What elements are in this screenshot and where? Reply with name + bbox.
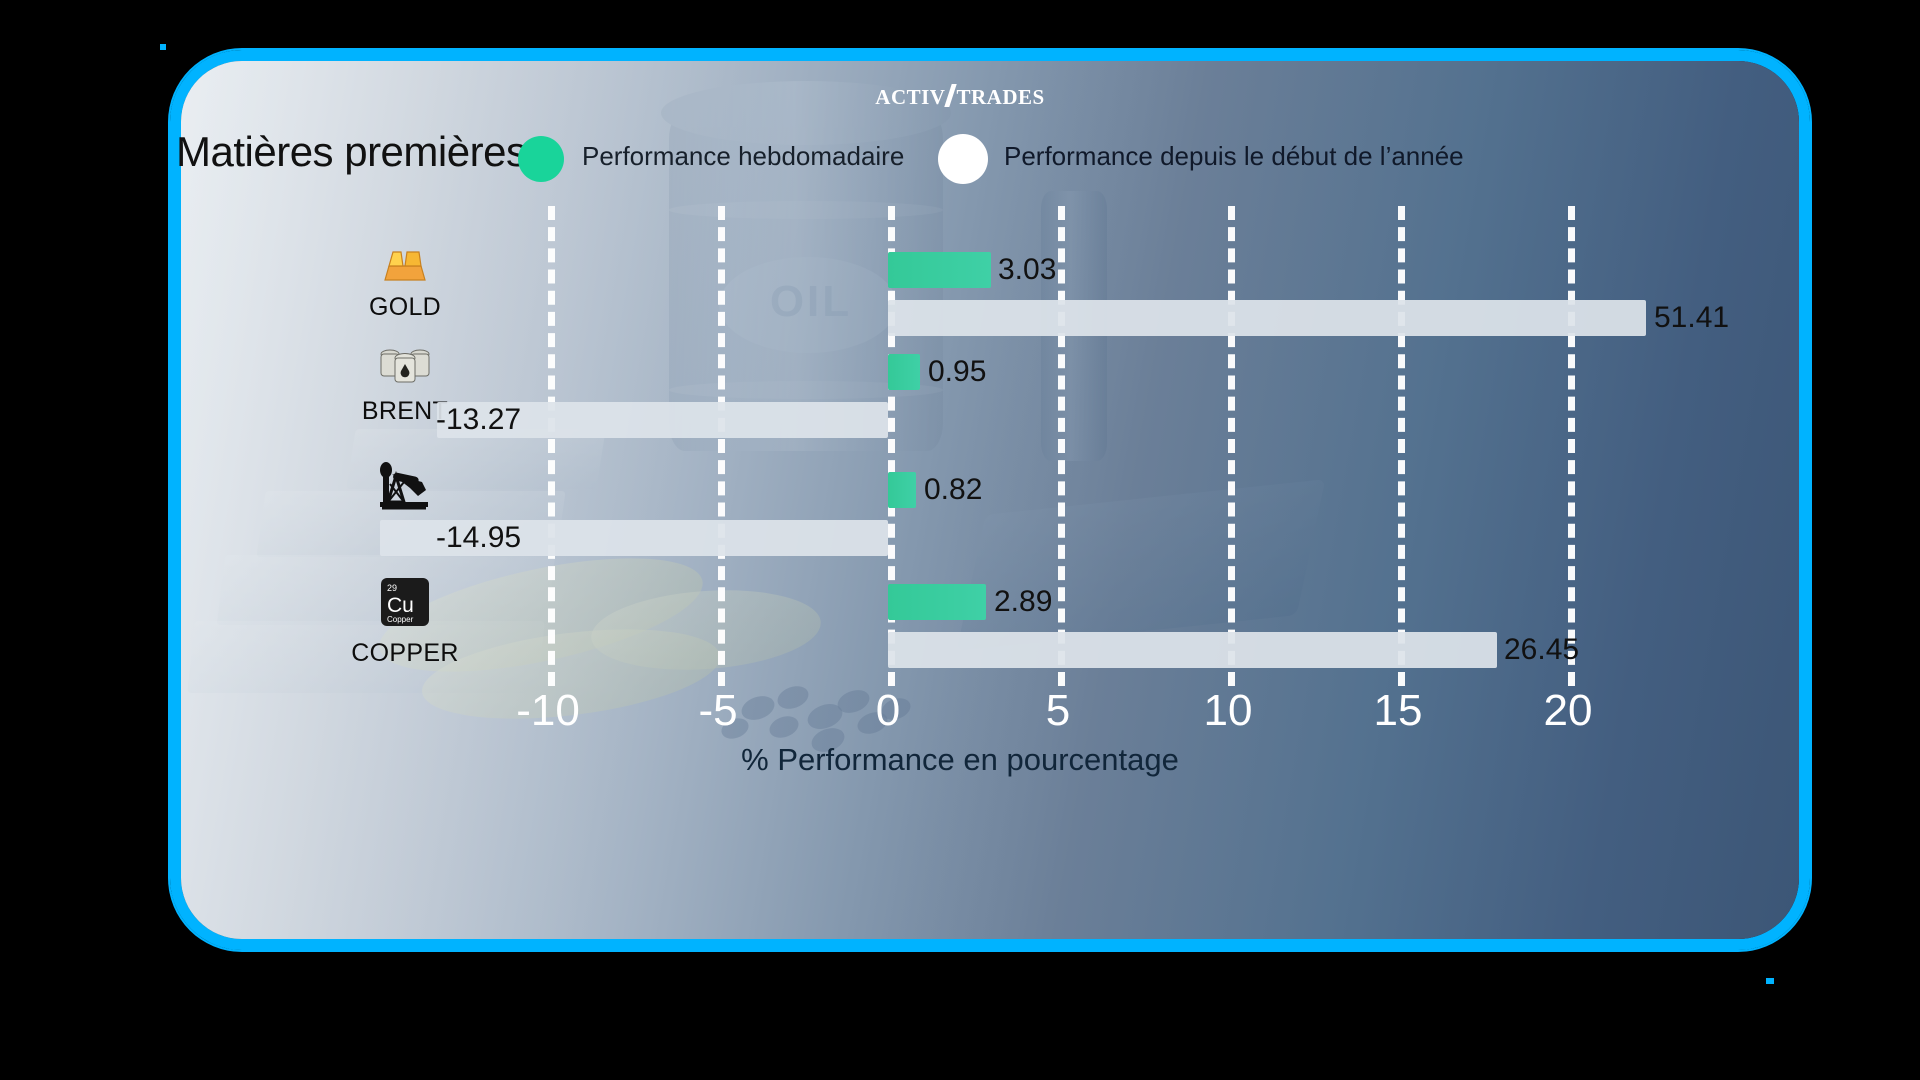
bar-brent-weekly (888, 354, 920, 390)
legend-dot-weekly-icon (518, 136, 564, 182)
category-oil (285, 460, 525, 521)
category-label-copper: COPPER (285, 639, 525, 668)
oil-pump-icon (285, 460, 525, 519)
svg-text:29: 29 (387, 583, 397, 593)
svg-text:Cu: Cu (387, 594, 414, 617)
svg-text:Copper: Copper (387, 615, 414, 624)
x-tick-15: 15 (1374, 686, 1423, 736)
value-brent-ytd: -13.27 (436, 402, 521, 438)
category-label-gold: GOLD (285, 293, 525, 322)
page-title: Matières premières (176, 128, 526, 176)
x-tick-5: 5 (1046, 686, 1070, 736)
legend-label-ytd: Performance depuis le début de l’année (1004, 141, 1464, 172)
legend-label-weekly: Performance hebdomadaire (582, 141, 904, 172)
chart-row-gold: GOLD 3.03 51.41 (0, 206, 1920, 326)
category-copper: 29 Cu Copper COPPER (285, 576, 525, 668)
value-oil-ytd: -14.95 (436, 520, 521, 556)
x-tick--5: -5 (698, 686, 737, 736)
chart-row-oil: 0.82 -14.95 (0, 454, 1920, 574)
gold-bars-icon (285, 244, 525, 291)
chart-row-brent: BRENT 0.95 -13.27 (0, 330, 1920, 450)
value-gold-weekly: 3.03 (998, 252, 1056, 288)
screenshot-root: OIL (0, 0, 1920, 1080)
chart-content: ACTIVTRADES Matières premières Performan… (0, 0, 1920, 1080)
x-tick-10: 10 (1204, 686, 1253, 736)
copper-element-icon: 29 Cu Copper (285, 576, 525, 637)
value-oil-weekly: 0.82 (924, 472, 982, 508)
x-tick--10: -10 (516, 686, 580, 736)
x-tick-20: 20 (1544, 686, 1593, 736)
bar-oil-weekly (888, 472, 916, 508)
value-brent-weekly: 0.95 (928, 354, 986, 390)
logo-trades: TRADES (956, 85, 1044, 109)
x-axis-title: % Performance en pourcentage (0, 742, 1920, 778)
activtrades-logo: ACTIVTRADES (0, 80, 1920, 111)
chart-row-copper: 29 Cu Copper COPPER 2.89 26.45 (0, 576, 1920, 696)
category-gold: GOLD (285, 244, 525, 322)
logo-activ: ACTIV (875, 85, 945, 109)
value-copper-ytd: 26.45 (1504, 632, 1579, 668)
oil-barrel-icon (285, 342, 525, 395)
bar-gold-weekly (888, 252, 991, 288)
plot-area: GOLD 3.03 51.41 (0, 206, 1920, 686)
legend-dot-ytd-icon (938, 134, 988, 184)
x-tick-0: 0 (876, 686, 900, 736)
value-copper-weekly: 2.89 (994, 584, 1052, 620)
bar-copper-weekly (888, 584, 986, 620)
bar-copper-ytd (888, 632, 1497, 668)
